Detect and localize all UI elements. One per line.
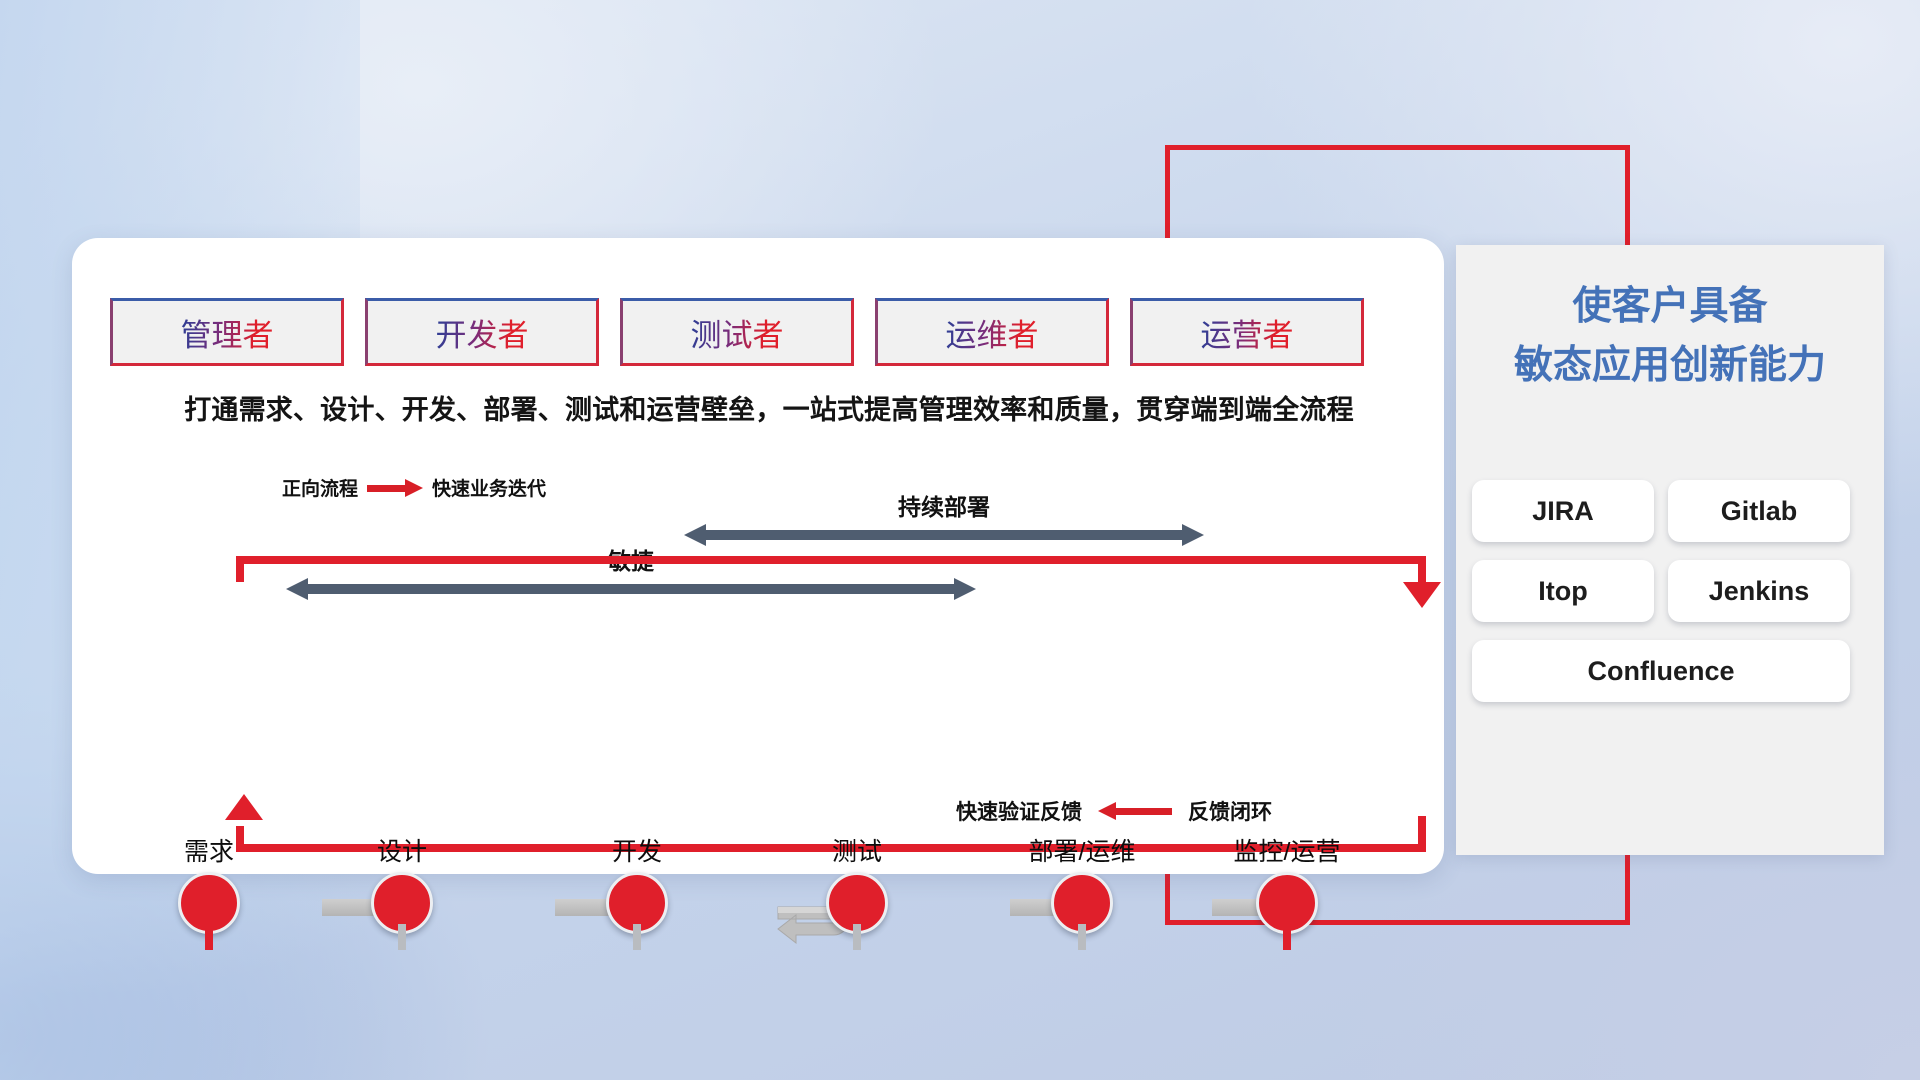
legend-feedback-loop: 快速验证反馈 反馈闭环 — [956, 796, 1272, 826]
stage-deploy-ops[interactable]: 部署/运维 — [1007, 832, 1157, 934]
stage-label: 部署/运维 — [1007, 832, 1157, 868]
stage-stem — [398, 924, 406, 950]
main-card: 管理者 开发者 测试者 运维者 运营者 打通需求、设计、开发、部署、测试和运营壁… — [72, 238, 1444, 874]
tool-chip-confluence[interactable]: Confluence — [1472, 640, 1850, 702]
cycle-loop-top — [236, 556, 1426, 564]
cycle-arrow-down-icon — [1403, 582, 1441, 608]
tool-label: Confluence — [1587, 656, 1734, 687]
stage-label: 需求 — [134, 832, 284, 868]
stage-stem — [205, 924, 213, 950]
right-panel: 使客户具备 敏态应用创新能力 JIRA Gitlab Itop Jenkins … — [1456, 245, 1884, 855]
arrow-left-red-icon — [1098, 802, 1172, 820]
tool-chip-grid: JIRA Gitlab Itop Jenkins Confluence — [1472, 480, 1868, 702]
stage-label: 设计 — [327, 832, 477, 868]
cycle-arrow-up-icon — [225, 794, 263, 820]
tool-label: Jenkins — [1709, 576, 1810, 607]
tool-label: Gitlab — [1721, 496, 1798, 527]
tool-chip-jira[interactable]: JIRA — [1472, 480, 1654, 542]
tool-label: JIRA — [1532, 496, 1594, 527]
panel-title: 使客户具备 敏态应用创新能力 — [1456, 277, 1884, 396]
tool-chip-itop[interactable]: Itop — [1472, 560, 1654, 622]
stage-label: 开发 — [562, 832, 712, 868]
tool-chip-gitlab[interactable]: Gitlab — [1668, 480, 1850, 542]
stage-stem — [1283, 924, 1291, 950]
stage-label: 测试 — [782, 832, 932, 868]
stage-stem — [633, 924, 641, 950]
tool-chip-jenkins[interactable]: Jenkins — [1668, 560, 1850, 622]
legend-feedback-right-label: 反馈闭环 — [1188, 796, 1272, 826]
cycle-loop-right-bottom — [1418, 816, 1426, 852]
stage-monitor-operations[interactable]: 监控/运营 — [1212, 832, 1362, 934]
stage-requirements[interactable]: 需求 — [134, 832, 284, 934]
stage-testing[interactable]: 测试 — [782, 832, 932, 934]
stage-label: 监控/运营 — [1212, 832, 1362, 868]
tool-label: Itop — [1538, 576, 1587, 607]
stage-stem — [853, 924, 861, 950]
cycle-loop-left-top — [236, 556, 244, 582]
stage-development[interactable]: 开发 — [562, 832, 712, 934]
stage-stem — [1078, 924, 1086, 950]
legend-feedback-left-label: 快速验证反馈 — [956, 796, 1082, 826]
stage-design[interactable]: 设计 — [327, 832, 477, 934]
